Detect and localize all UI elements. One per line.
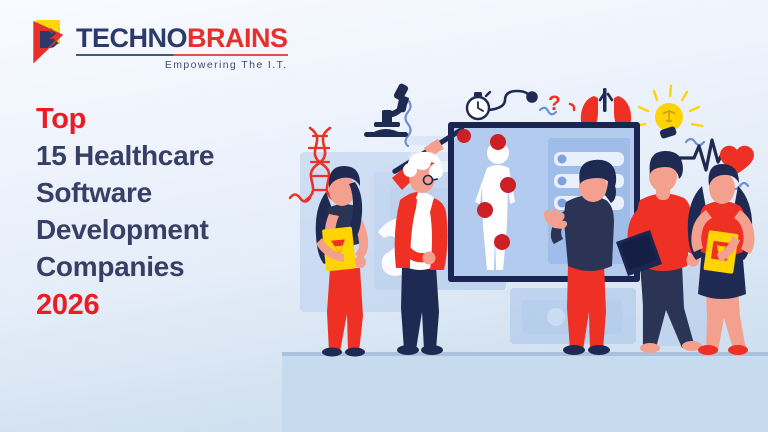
headline-line-1: Top: [36, 100, 296, 138]
brand-underline: [76, 54, 288, 56]
brand-name-techno: TECHNO: [76, 23, 187, 53]
headline-line-4: Development: [36, 212, 296, 249]
technobrains-logo-icon: [26, 18, 68, 70]
brand-name-brains: BRAINS: [187, 23, 288, 53]
brand-wordmark: TECHNOBRAINS Empowering The I.T.: [76, 18, 288, 71]
brand-tagline: Empowering The I.T.: [76, 59, 288, 71]
banner-root: TECHNOBRAINS Empowering The I.T. Top 15 …: [0, 0, 768, 432]
stethoscope-icon: [489, 91, 537, 110]
brand-name: TECHNOBRAINS: [76, 25, 288, 52]
headline-line-3: Software: [36, 175, 296, 212]
squiggle-icon: [686, 139, 704, 145]
headline-line-6: 2026: [36, 286, 296, 324]
microscope-icon: [364, 83, 409, 137]
headline-line-5: Companies: [36, 249, 296, 286]
question-mark-icon: ?: [548, 92, 574, 115]
ground-plane: [282, 356, 768, 432]
stopwatch-icon: [467, 92, 490, 119]
headline-line-2: 15 Healthcare: [36, 138, 296, 175]
headline-block: Top 15 Healthcare Software Development C…: [36, 100, 296, 324]
svg-text:?: ?: [548, 92, 561, 115]
healthcare-illustration: ?: [282, 0, 768, 432]
brand-logo[interactable]: TECHNOBRAINS Empowering The I.T.: [26, 18, 288, 71]
lightbulb-icon: [636, 86, 702, 139]
